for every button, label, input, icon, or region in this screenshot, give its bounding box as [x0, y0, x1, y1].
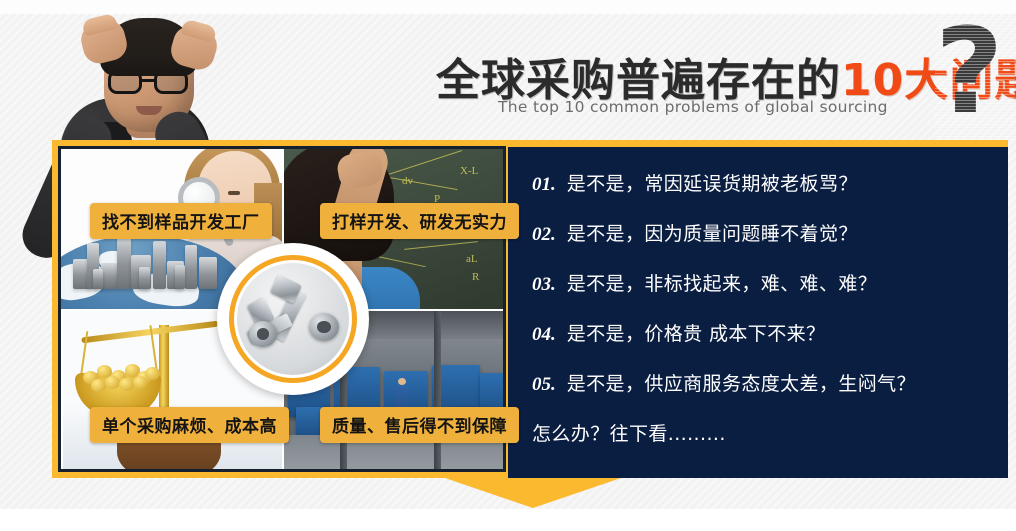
- metal-part: [93, 269, 103, 289]
- problem-text: 是不是，供应商服务态度太差，生闷气？: [567, 369, 916, 396]
- center-badge: [217, 243, 369, 395]
- chalk-symbol: aL: [466, 253, 478, 265]
- problem-list-panel: 01. 是不是，常因延误货期被老板骂？ 02. 是不是，因为质量问题睡不着觉？ …: [508, 140, 1008, 478]
- metal-part: [153, 241, 166, 289]
- collage-label-no-sample-factory: 找不到样品开发工厂: [90, 203, 272, 239]
- gold-nugget: [145, 367, 160, 380]
- problem-text: 是不是，常因延误货期被老板骂？: [567, 169, 858, 196]
- page-subtitle: The top 10 common problems of global sou…: [498, 98, 888, 116]
- problem-number: 01.: [532, 174, 556, 196]
- metal-part: [101, 263, 117, 289]
- background-bottom-strip: [0, 509, 1016, 531]
- problem-item-3: 03. 是不是，非标找起来，难、难、难？: [532, 269, 994, 296]
- woman-eye: [228, 191, 240, 195]
- collage-label-no-rnd-strength: 打样开发、研发无实力: [320, 203, 519, 239]
- metal-part: [175, 265, 185, 289]
- gold-nugget: [105, 376, 120, 389]
- chalk-symbol: dv: [402, 175, 413, 187]
- problem-list: 01. 是不是，常因延误货期被老板骂？ 02. 是不是，因为质量问题睡不着觉？ …: [532, 169, 994, 446]
- problem-item-4: 04. 是不是，价格贵 成本下不来？: [532, 319, 994, 346]
- problem-item-2: 02. 是不是，因为质量问题睡不着觉？: [532, 219, 994, 246]
- gold-nugget: [119, 378, 134, 391]
- problem-number: 04.: [532, 324, 556, 346]
- problem-number: 02.: [532, 224, 556, 246]
- problem-item-5: 05. 是不是，供应商服务态度太差，生闷气？: [532, 369, 994, 396]
- problem-text: 是不是，价格贵 成本下不来？: [567, 319, 826, 346]
- metal-part: [139, 267, 150, 289]
- bolts-and-nuts-photo: [237, 263, 349, 375]
- metal-part: [199, 257, 217, 289]
- chalk-symbol: X-L: [460, 165, 478, 177]
- chalk-symbol: R: [472, 271, 479, 283]
- factory-pillar: [434, 311, 441, 469]
- problem-item-1: 01. 是不是，常因延误货期被老板骂？: [532, 169, 994, 196]
- metal-part: [117, 235, 131, 289]
- promo-banner: 全球采购普遍存在的10大问题 The top 10 common problem…: [0, 0, 1016, 531]
- badge-ring: [229, 255, 357, 383]
- gold-nugget: [133, 376, 148, 389]
- gold-nugget: [91, 379, 106, 392]
- gold-nuggets: [81, 363, 155, 389]
- hex-nut: [249, 321, 277, 347]
- problem-text: 是不是，非标找起来，难、难、难？: [567, 269, 877, 296]
- metal-part: [185, 245, 197, 289]
- problem-number: 05.: [532, 374, 556, 396]
- problem-number: 03.: [532, 274, 556, 296]
- header: 全球采购普遍存在的10大问题 The top 10 common problem…: [430, 38, 1016, 148]
- problem-list-footer: 怎么办？往下看.........: [532, 419, 994, 446]
- glasses-bridge: [142, 79, 156, 82]
- question-mark-icon: ?: [935, 12, 1003, 130]
- problem-text: 是不是，因为质量问题睡不着觉？: [567, 219, 858, 246]
- hex-nut: [309, 313, 339, 341]
- collage-label-no-quality-aftersales: 质量、售后得不到保障: [320, 407, 519, 443]
- collage-label-single-purchase-costly: 单个采购麻烦、成本高: [90, 407, 289, 443]
